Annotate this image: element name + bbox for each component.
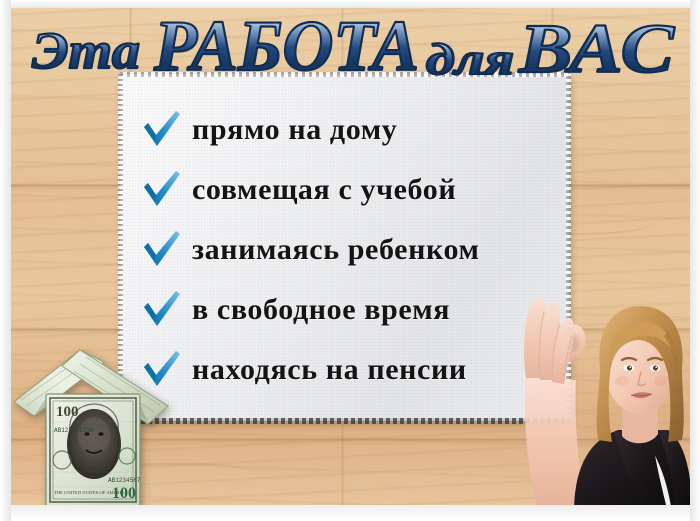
svg-text:AB12345678A: AB12345678A bbox=[54, 427, 94, 434]
svg-text:100: 100 bbox=[56, 404, 79, 420]
list-item: совмещая с учебой bbox=[140, 160, 570, 220]
poster-title-text: Эта РАБОТА для ВАС bbox=[0, 0, 1, 1]
woman-ok-gesture-image bbox=[482, 280, 692, 513]
blue-checkmark-icon bbox=[140, 108, 184, 152]
list-item-label: в свободное время bbox=[192, 293, 450, 327]
blue-checkmark-icon bbox=[140, 168, 184, 212]
list-item-label: совмещая с учебой bbox=[192, 173, 456, 207]
list-item-label: занимаясь ребенком bbox=[192, 233, 480, 267]
blue-checkmark-icon bbox=[140, 228, 184, 272]
list-item-label: находясь на пенсии bbox=[192, 353, 467, 387]
list-item: прямо на дому bbox=[140, 100, 570, 160]
blue-checkmark-icon bbox=[140, 288, 184, 332]
svg-text:AB12345678A: AB12345678A bbox=[108, 477, 148, 484]
frame-border-top bbox=[0, 0, 700, 8]
poster-root: прямо на дому совмещая с учебой bbox=[0, 0, 700, 521]
svg-text:THE UNITED STATES OF AMERICA: THE UNITED STATES OF AMERICA bbox=[54, 490, 128, 495]
list-item-label: прямо на дому bbox=[192, 113, 397, 147]
money-house-image: 100 100 AB12345678A AB12345678A THE UNIT… bbox=[8, 332, 183, 514]
list-item: занимаясь ребенком bbox=[140, 220, 570, 280]
